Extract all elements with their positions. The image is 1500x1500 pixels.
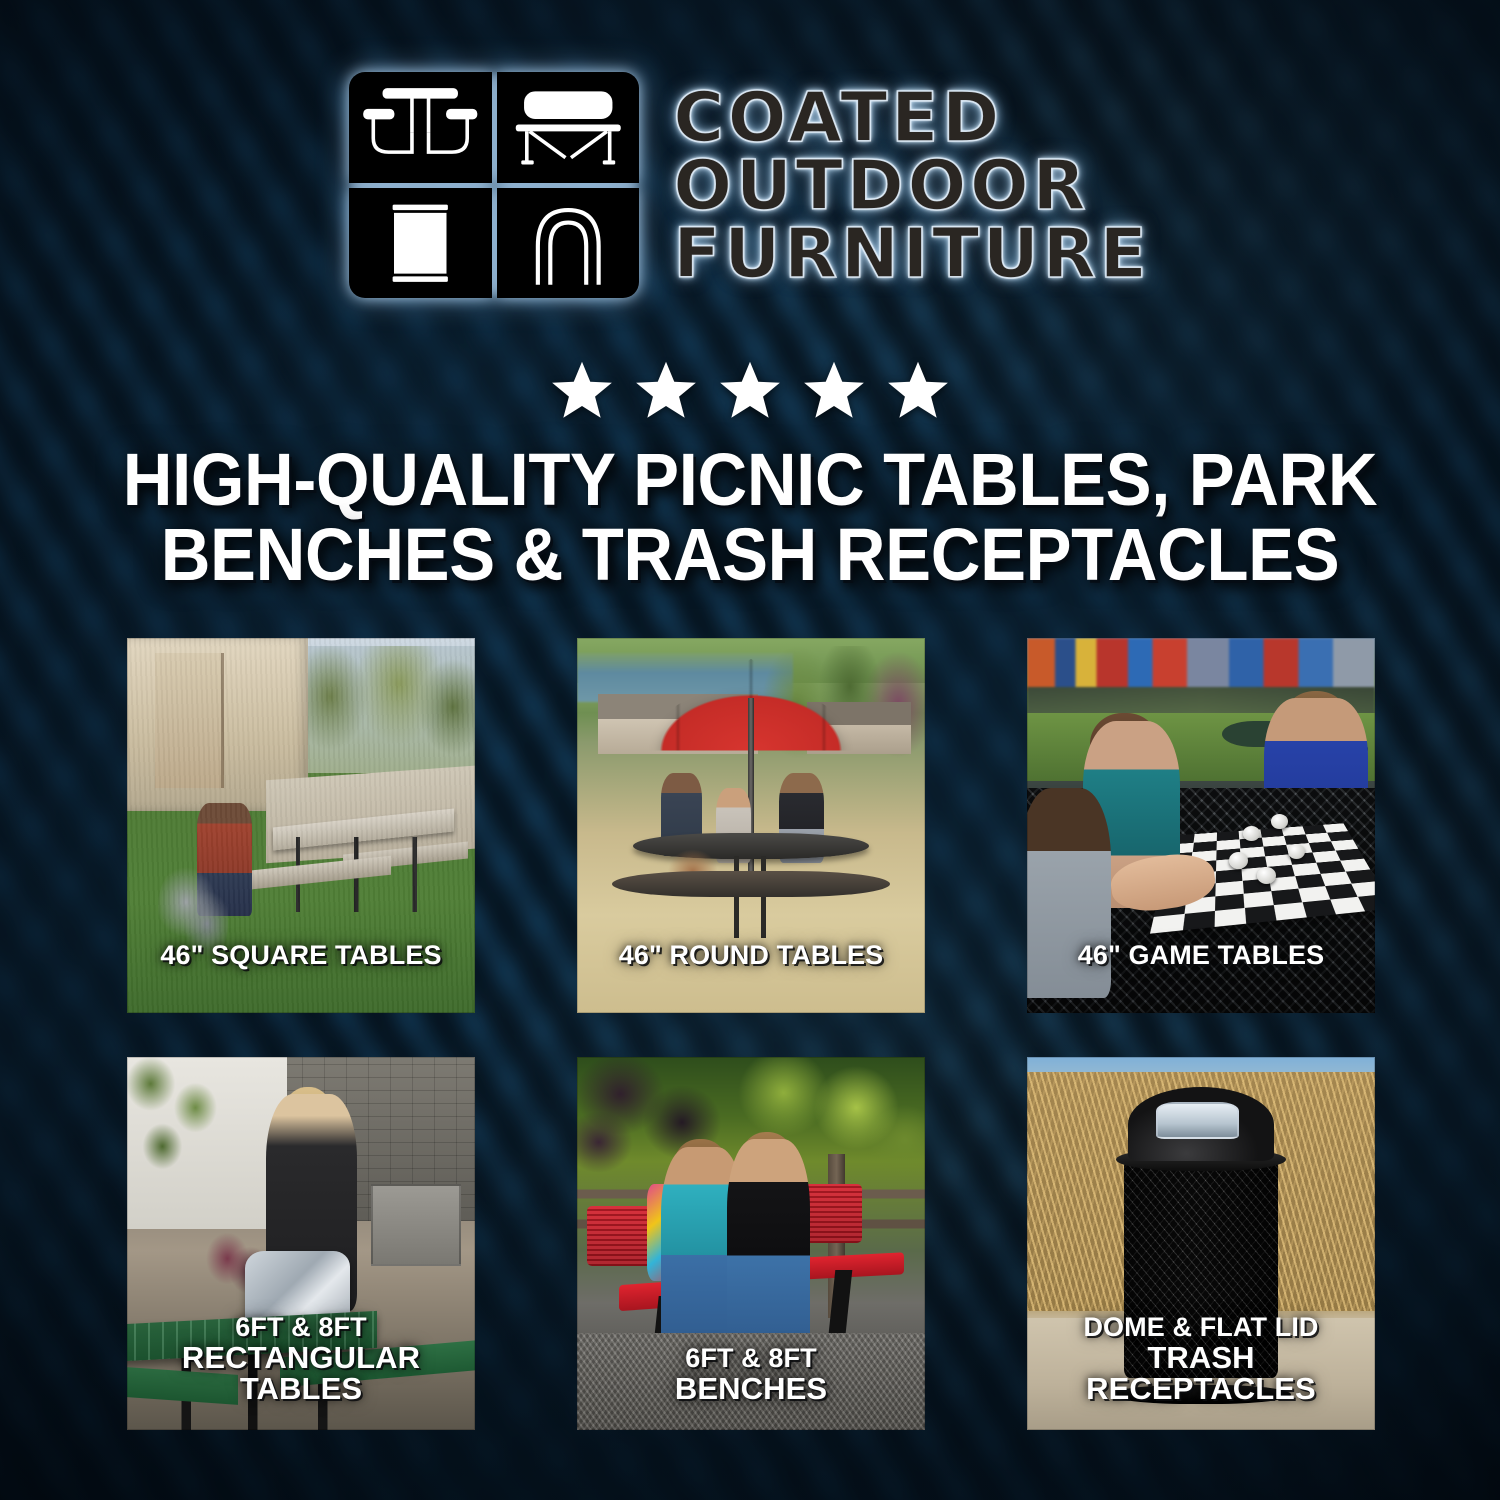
logo-word-outdoor: OUTDOOR bbox=[673, 153, 1150, 219]
caption-line-2: TRASH RECEPTACLES bbox=[1033, 1342, 1369, 1404]
caption-line-1: 6FT & 8FT bbox=[685, 1343, 816, 1373]
logo-word-coated: COATED bbox=[673, 85, 1150, 151]
caption-line-1: 46" GAME TABLES bbox=[1078, 940, 1324, 970]
logo-word-furniture: FURNITURE bbox=[673, 221, 1150, 287]
picnic-table-icon bbox=[349, 72, 492, 183]
product-caption-square-tables: 46" SQUARE TABLES bbox=[133, 942, 469, 969]
star-icon-4 bbox=[801, 358, 867, 422]
product-tile-rectangular-tables[interactable]: 6FT & 8FT RECTANGULAR TABLES bbox=[127, 1057, 475, 1430]
product-grid: 46" SQUARE TABLES 46" ROUND TABLES bbox=[127, 638, 1375, 1430]
caption-line-2: RECTANGULAR TABLES bbox=[133, 1342, 469, 1404]
product-caption-benches: 6FT & 8FT BENCHES bbox=[583, 1345, 919, 1404]
page-title: HIGH-QUALITY PICNIC TABLES, PARK BENCHES… bbox=[108, 442, 1391, 593]
caption-line-1: 46" ROUND TABLES bbox=[619, 940, 884, 970]
caption-line-1: DOME & FLAT LID bbox=[1083, 1312, 1318, 1342]
bench-icon bbox=[497, 72, 640, 183]
star-icon-2 bbox=[633, 358, 699, 422]
product-tile-round-tables[interactable]: 46" ROUND TABLES bbox=[577, 638, 925, 1013]
product-tile-benches[interactable]: 6FT & 8FT BENCHES bbox=[577, 1057, 925, 1430]
product-tile-game-tables[interactable]: 46" GAME TABLES bbox=[1027, 638, 1375, 1013]
star-icon-5 bbox=[885, 358, 951, 422]
logo-mark bbox=[349, 72, 639, 298]
bike-rack-icon bbox=[497, 188, 640, 299]
star-rating bbox=[0, 358, 1500, 422]
product-caption-round-tables: 46" ROUND TABLES bbox=[583, 942, 919, 969]
star-icon-1 bbox=[549, 358, 615, 422]
page-title-line-2: BENCHES & TRASH RECEPTACLES bbox=[108, 517, 1391, 592]
product-tile-square-tables[interactable]: 46" SQUARE TABLES bbox=[127, 638, 475, 1013]
product-caption-trash-receptacles: DOME & FLAT LID TRASH RECEPTACLES bbox=[1033, 1314, 1369, 1404]
product-tile-trash-receptacles[interactable]: DOME & FLAT LID TRASH RECEPTACLES bbox=[1027, 1057, 1375, 1430]
logo-wordmark: COATED OUTDOOR FURNITURE bbox=[673, 83, 1150, 288]
brand-logo: COATED OUTDOOR FURNITURE bbox=[0, 72, 1500, 298]
page-title-line-1: HIGH-QUALITY PICNIC TABLES, PARK bbox=[108, 442, 1391, 517]
caption-line-2: BENCHES bbox=[583, 1373, 919, 1404]
product-caption-game-tables: 46" GAME TABLES bbox=[1033, 942, 1369, 969]
caption-line-1: 6FT & 8FT bbox=[235, 1312, 366, 1342]
trash-receptacle-icon bbox=[349, 188, 492, 299]
product-caption-rectangular-tables: 6FT & 8FT RECTANGULAR TABLES bbox=[133, 1314, 469, 1404]
star-icon-3 bbox=[717, 358, 783, 422]
caption-line-1: 46" SQUARE TABLES bbox=[160, 940, 441, 970]
